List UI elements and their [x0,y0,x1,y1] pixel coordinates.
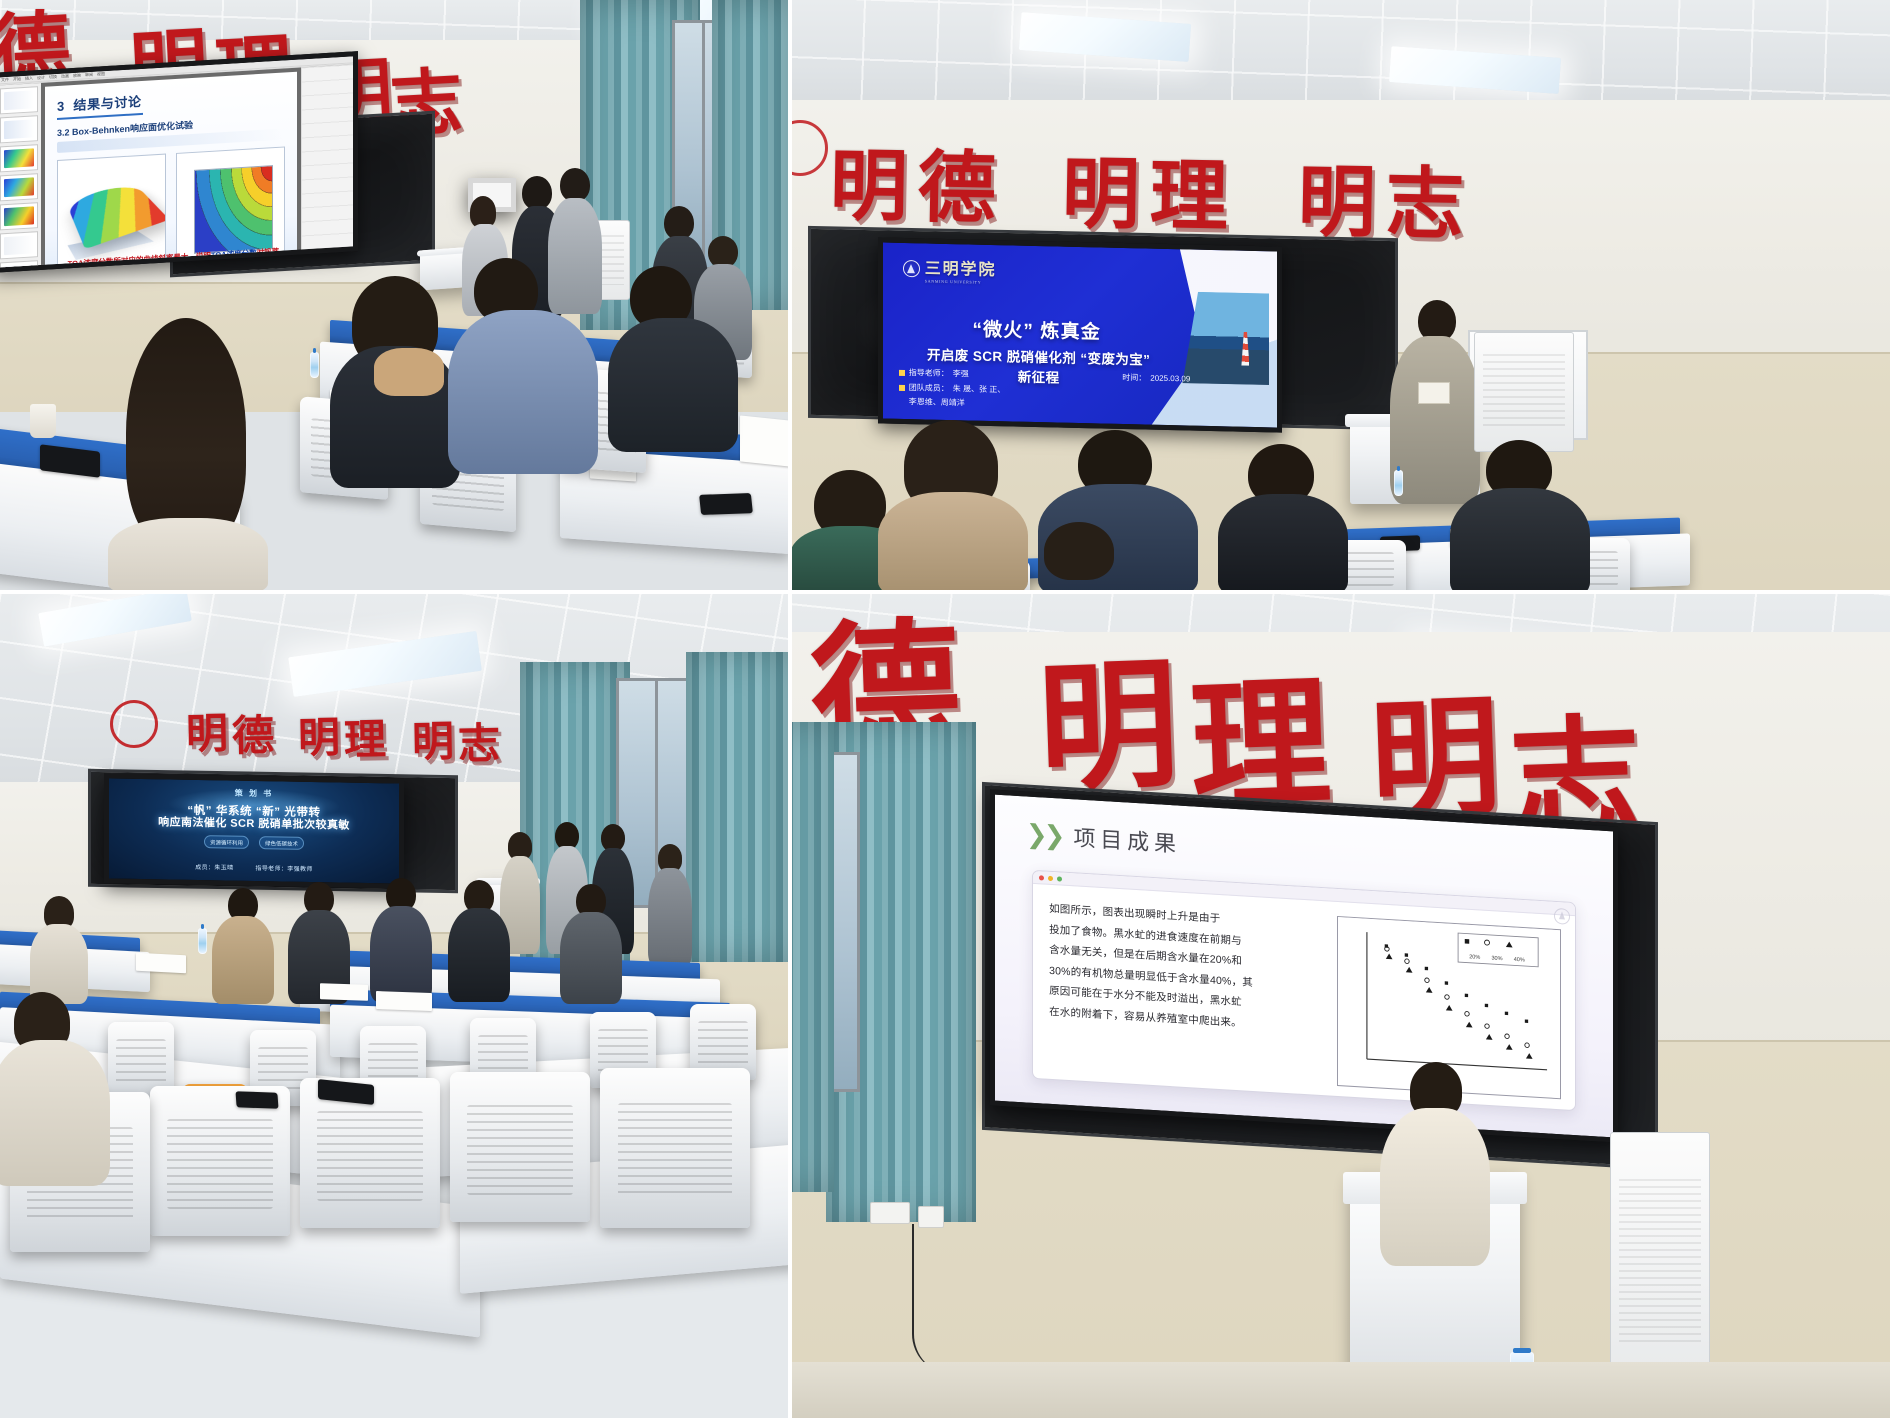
contour-lines [195,166,272,254]
team-row: 团队成员： 朱 晟、张 正、 [899,382,1005,397]
tag-1: 资源循环利用 [204,835,249,849]
interactive-display-title-slide[interactable]: 三明学院 SANMING UNIVERSITY “微火” 炼真金 开启废 SCR… [878,237,1282,432]
slide-subtitle-line1: 开启废 SCR 脱硝催化剂 “变废为宝” [927,348,1150,368]
power-cable [912,1224,972,1374]
wall-air-conditioner [1474,332,1574,452]
ppt-tab-view[interactable]: 视图 [97,71,105,77]
photo-collage: 德 明 理 明 志 文件 开始 插入 设计 切换 动画 [0,0,1890,1418]
panel-title-slide-view: 明 德 明 理 明 志 三明学院 SANMING UNIVERSITY [790,0,1890,592]
person-seated-foreground-1 [108,318,268,592]
ppt-tab-file[interactable]: 文件 [1,77,9,83]
motto-char-ming-2: 明 [1061,131,1146,244]
curtain-left-2 [790,722,834,1192]
ppt-tab-insert[interactable]: 插入 [25,75,33,81]
motto-char-ming-1: 明 [185,700,231,762]
panel-ppt-editing-view: 德 明 理 明 志 文件 开始 插入 设计 切换 动画 [0,0,790,592]
paper-sheet-1 [136,953,186,974]
list-item[interactable] [0,144,38,172]
body-text: 如图所示，图表出现瞬时上升是由于 投加了食物。黑水虻的进食速度在前期与 含水量无… [1033,884,1336,1095]
list-item[interactable] [0,231,38,259]
person-seated-3 [288,882,350,1000]
avatar [560,168,590,202]
slide-title: “微火” 炼真金 [899,313,1175,346]
person-body [878,492,1028,592]
slide-canvas-dark[interactable]: 策 划 书 “帆” 华系统 “新” 光带转 响应南法催化 SCR 脱硝单批次较真… [109,778,399,883]
motto-char-zhi: 志 [457,710,503,772]
credits-left: 指导老师： 李强 团队成员： 朱 晟、张 正、 李恩维、周靖洋 [899,367,1005,411]
person-audience-5 [1022,522,1142,592]
person-body [448,908,510,1002]
curtain-far-right [686,652,790,962]
credit-advisor-label: 指导老师： [255,866,287,873]
person-body [1380,1108,1490,1266]
slide-heading-number: 3 [57,99,65,114]
list-item[interactable] [0,202,38,230]
interactive-display-results[interactable]: ❯❯ 项目成果 如图所示，图表出现瞬时上升是由于 投加了食物。黑水虻的进食速度在… [990,789,1618,1142]
slide-heading: 3 结果与讨论 [57,82,285,115]
avatar [126,318,246,548]
paper-sheet-2 [320,983,368,1001]
card-inner: 如图所示，图表出现瞬时上升是由于 投加了食物。黑水虻的进食速度在前期与 含水量无… [1033,884,1575,1109]
credits-right: 时间： 2025.03.09 [1122,372,1190,386]
person-body [370,906,432,1002]
slide-credits: 成员：朱玉晴 指导老师：李强教师 [109,860,399,874]
credit-advisor: 指导老师：李强教师 [255,863,312,873]
school-logo: 三明学院 SANMING UNIVERSITY [903,254,997,285]
water-bottle [198,928,207,954]
wall-air-conditioner [1610,1132,1710,1392]
avatar [664,206,694,240]
person-seated-foreground-4 [608,266,738,446]
person-audience-2 [878,420,1028,592]
svg-text:30%: 30% [1491,956,1502,963]
advisor-label: 指导老师： [909,367,949,380]
ppt-tab-design[interactable]: 设计 [37,75,45,81]
interactive-display-ppt[interactable]: 文件 开始 插入 设计 切换 动画 放映 审阅 视图 [0,51,358,273]
person-seated-4 [370,878,432,998]
ppt-tab-home[interactable]: 开始 [13,76,21,82]
person-seated-foreground-2 [330,276,460,486]
person-audience-6 [1450,440,1590,592]
chair-foreground-3 [450,1072,590,1222]
school-name-en: SANMING UNIVERSITY [925,278,997,285]
school-seal-icon [903,260,920,277]
scarf [374,348,444,396]
panel-results-slide-view: 德 明 理 明 志 ❯❯ 项目成果 [790,592,1890,1418]
person-body [448,310,598,474]
team-row-2: 李恩维、周靖洋 [899,396,1005,411]
school-watermark-icon [1554,907,1570,924]
ppt-tab-review[interactable]: 审阅 [85,72,93,78]
motto-char-de: 德 [231,702,277,764]
person-seated-2 [212,888,274,1000]
svg-text:20%: 20% [1469,955,1480,962]
motto-char-ming-3: 明 [411,708,457,770]
date-label: 时间： [1122,372,1146,385]
section-header: ❯❯ 项目成果 [1026,818,1181,859]
paper-cup [30,404,56,438]
smartphone-on-desk [235,1091,278,1109]
person-body [560,912,622,1004]
credit-team-value: 朱玉晴 [214,865,233,871]
collage-seam-horizontal [0,590,1890,594]
smartphone-on-desk [699,493,753,515]
team-label: 团队成员： [909,382,949,395]
avatar [1044,522,1114,580]
team-value-1: 朱 晟、张 正、 [953,383,1005,397]
person-standing-4 [648,844,692,964]
person-seated-5 [448,880,510,998]
school-name-cn: 三明学院 [925,260,997,279]
school-seal-wall [110,700,158,748]
person-body [648,868,692,966]
double-chevron-right-icon: ❯❯ [1026,821,1062,849]
motto-char-li: 理 [1149,133,1234,246]
interactive-display-dark-slide[interactable]: 策 划 书 “帆” 华系统 “新” 光带转 响应南法催化 SCR 脱硝单批次较真… [104,773,404,888]
motto-char-ming-1: 明 [829,123,914,236]
chair-foreground-1 [150,1086,290,1236]
person-body [0,1040,110,1186]
ppt-format-pane[interactable] [301,64,353,272]
bullet-square-icon [899,370,905,376]
contour-fill [194,165,273,255]
paper-sheet-3 [740,415,790,466]
person-at-lectern [1380,1062,1490,1262]
team-value-2: 李恩维、周靖洋 [909,396,965,410]
list-item[interactable] [0,86,38,114]
section-title: 项目成果 [1073,821,1180,859]
ppt-stage: 3 结果与讨论 3.2 Box-Behnken响应面优化试验 [41,68,301,273]
person-body [608,318,738,452]
school-name: 三明学院 SANMING UNIVERSITY [925,254,997,285]
list-item[interactable] [0,173,38,201]
date-value: 2025.03.09 [1150,373,1190,386]
panel-wide-room-view: 明 德 明 理 明 志 策 划 书 “帆” 华系统 “新” 光带转 响应南法催化… [0,592,790,1418]
slide-canvas-results[interactable]: ❯❯ 项目成果 如图所示，图表出现瞬时上升是由于 投加了食物。黑水虻的进食速度在… [995,795,1613,1138]
person-body [108,518,268,592]
person-seated-foreground [0,992,110,1184]
date-row: 时间： 2025.03.09 [1122,372,1190,386]
collage-seam-vertical [788,0,792,1418]
person-seated-foreground-3 [448,258,598,468]
motto-char-ming-2: 明 [297,704,343,766]
wall-outlet-1 [870,1202,910,1224]
powerpoint-app[interactable]: 文件 开始 插入 设计 切换 动画 放映 审阅 视图 [0,56,353,267]
motto-char-li: 理 [343,706,389,768]
motto-char-de: 德 [917,125,1002,238]
advisor-value: 李强 [953,368,969,381]
ppt-body: 3 结果与讨论 3.2 Box-Behnken响应面优化试验 [0,64,353,272]
credit-team: 成员：朱玉晴 [195,862,233,872]
person-seated-1 [30,896,88,1000]
bullet-square-icon [899,385,905,391]
ppt-tab-transition[interactable]: 切换 [49,74,57,80]
person-seated-6 [560,884,622,1000]
window-dot-red [1039,875,1044,880]
svg-text:40%: 40% [1513,957,1524,964]
person-audience-4 [1218,444,1348,592]
slide-heading-text: 结果与讨论 [73,94,141,113]
ppt-slide-thumbnails[interactable] [0,83,41,273]
person-body [1218,494,1348,592]
content-card: 如图所示，图表出现瞬时上升是由于 投加了食物。黑水虻的进食速度在前期与 含水量无… [1032,870,1576,1110]
credit-team-label: 成员： [195,865,214,871]
ppt-tab-slideshow[interactable]: 放映 [73,73,81,79]
water-bottle [310,352,319,378]
chair-foreground-4 [600,1068,750,1228]
window-dot-green [1057,876,1062,881]
person-body [1450,488,1590,592]
window-dot-yellow [1048,876,1053,881]
slide-canvas-title[interactable]: 三明学院 SANMING UNIVERSITY “微火” 炼真金 开启废 SCR… [883,243,1277,428]
slide-tags: 资源循环利用 绿色低碳技术 [109,833,399,851]
slide-credits: 指导老师： 李强 团队成员： 朱 晟、张 正、 李恩维、周靖洋 [899,367,1191,415]
slide-canvas[interactable]: 3 结果与讨论 3.2 Box-Behnken响应面优化试验 [45,72,297,273]
list-item[interactable] [0,115,38,143]
ppt-tab-animation[interactable]: 动画 [61,73,69,79]
floor-skirting [790,1362,1890,1418]
water-bottle [1394,470,1403,496]
paper-sheet-3 [376,991,432,1011]
person-body [212,916,274,1004]
advisor-row: 指导老师： 李强 [899,367,1005,382]
name-badge [1418,382,1450,404]
tag-2: 绿色低碳技术 [259,836,304,850]
credit-advisor-value: 李强教师 [287,867,312,873]
